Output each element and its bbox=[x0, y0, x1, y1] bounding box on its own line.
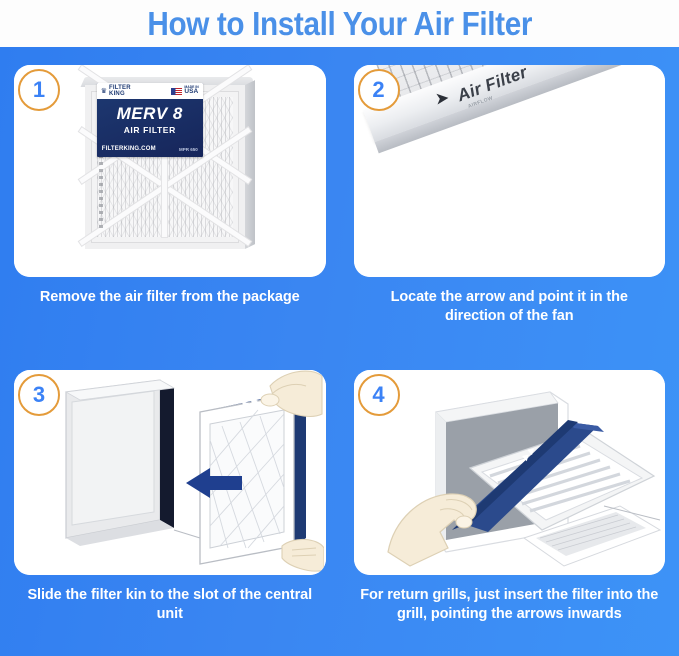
usa-flag-icon bbox=[171, 88, 182, 95]
step-3-badge: 3 bbox=[18, 374, 60, 416]
step-1-number: 1 bbox=[33, 79, 45, 101]
step-4-number: 4 bbox=[372, 384, 384, 406]
step-3-number: 3 bbox=[33, 384, 45, 406]
step-2-number: 2 bbox=[372, 79, 384, 101]
step-2-caption: Locate the arrow and point it in the dir… bbox=[354, 288, 666, 326]
product-type: AIR FILTER bbox=[97, 125, 203, 135]
step-1-card: 1 bbox=[14, 65, 326, 277]
brand-line-2: KING bbox=[109, 91, 125, 97]
step-2: 2 ➤ Air Filter AIRFLOW Locate the a bbox=[340, 47, 679, 352]
filter-product-label: ♛ FILTER KING MADE IN bbox=[97, 83, 203, 157]
steps-grid: 1 bbox=[0, 47, 679, 656]
header-bar: How to Install Your Air Filter bbox=[0, 0, 679, 47]
step-2-badge: 2 bbox=[358, 69, 400, 111]
filter-king-logo: ♛ FILTER KING bbox=[101, 85, 131, 98]
airflow-arrow-icon: ➤ bbox=[434, 89, 454, 109]
filter-corner-body: ➤ Air Filter AIRFLOW bbox=[354, 65, 666, 277]
step-3-card: 3 bbox=[14, 370, 326, 575]
filter-right-edge bbox=[245, 80, 255, 249]
infographic-page: How to Install Your Air Filter 1 bbox=[0, 0, 679, 656]
step-1-caption: Remove the air filter from the package bbox=[14, 288, 326, 307]
hand-lower bbox=[282, 539, 324, 571]
step-4-caption: For return grills, just insert the filte… bbox=[354, 586, 666, 624]
country-text: USA bbox=[184, 88, 198, 95]
mpr-rating: MPR 650 bbox=[179, 147, 198, 152]
step-1: 1 bbox=[0, 47, 340, 352]
crown-icon: ♛ bbox=[101, 88, 107, 95]
label-footer: FILTERKING.COM MPR 650 bbox=[102, 146, 198, 152]
label-top-strip: ♛ FILTER KING MADE IN bbox=[97, 83, 203, 99]
alignment-guide bbox=[174, 530, 200, 538]
slide-filter-into-slot-illustration bbox=[14, 370, 326, 575]
merv8-filter-photo: ♛ FILTER KING MADE IN bbox=[14, 65, 326, 277]
step-2-card: 2 ➤ Air Filter AIRFLOW bbox=[354, 65, 666, 277]
merv-rating: MERV 8 bbox=[97, 104, 203, 124]
step-4-card: 4 bbox=[354, 370, 666, 575]
step-4-badge: 4 bbox=[358, 374, 400, 416]
step-1-badge: 1 bbox=[18, 69, 60, 111]
step-3: 3 bbox=[0, 352, 340, 656]
insert-filter-into-return-grill-illustration bbox=[354, 370, 666, 575]
page-title: How to Install Your Air Filter bbox=[147, 5, 532, 43]
filter-corner-arrow-photo: ➤ Air Filter AIRFLOW bbox=[354, 65, 666, 277]
brand-website: FILTERKING.COM bbox=[102, 146, 156, 152]
brand-line-1: FILTER bbox=[109, 85, 131, 91]
step-4: 4 bbox=[340, 352, 679, 656]
made-in-usa-mark: MADE IN USA bbox=[171, 86, 198, 96]
central-unit-slot bbox=[66, 380, 174, 546]
filter-photo-body: ♛ FILTER KING MADE IN bbox=[85, 77, 255, 249]
step-3-caption: Slide the filter kin to the slot of the … bbox=[14, 586, 326, 624]
